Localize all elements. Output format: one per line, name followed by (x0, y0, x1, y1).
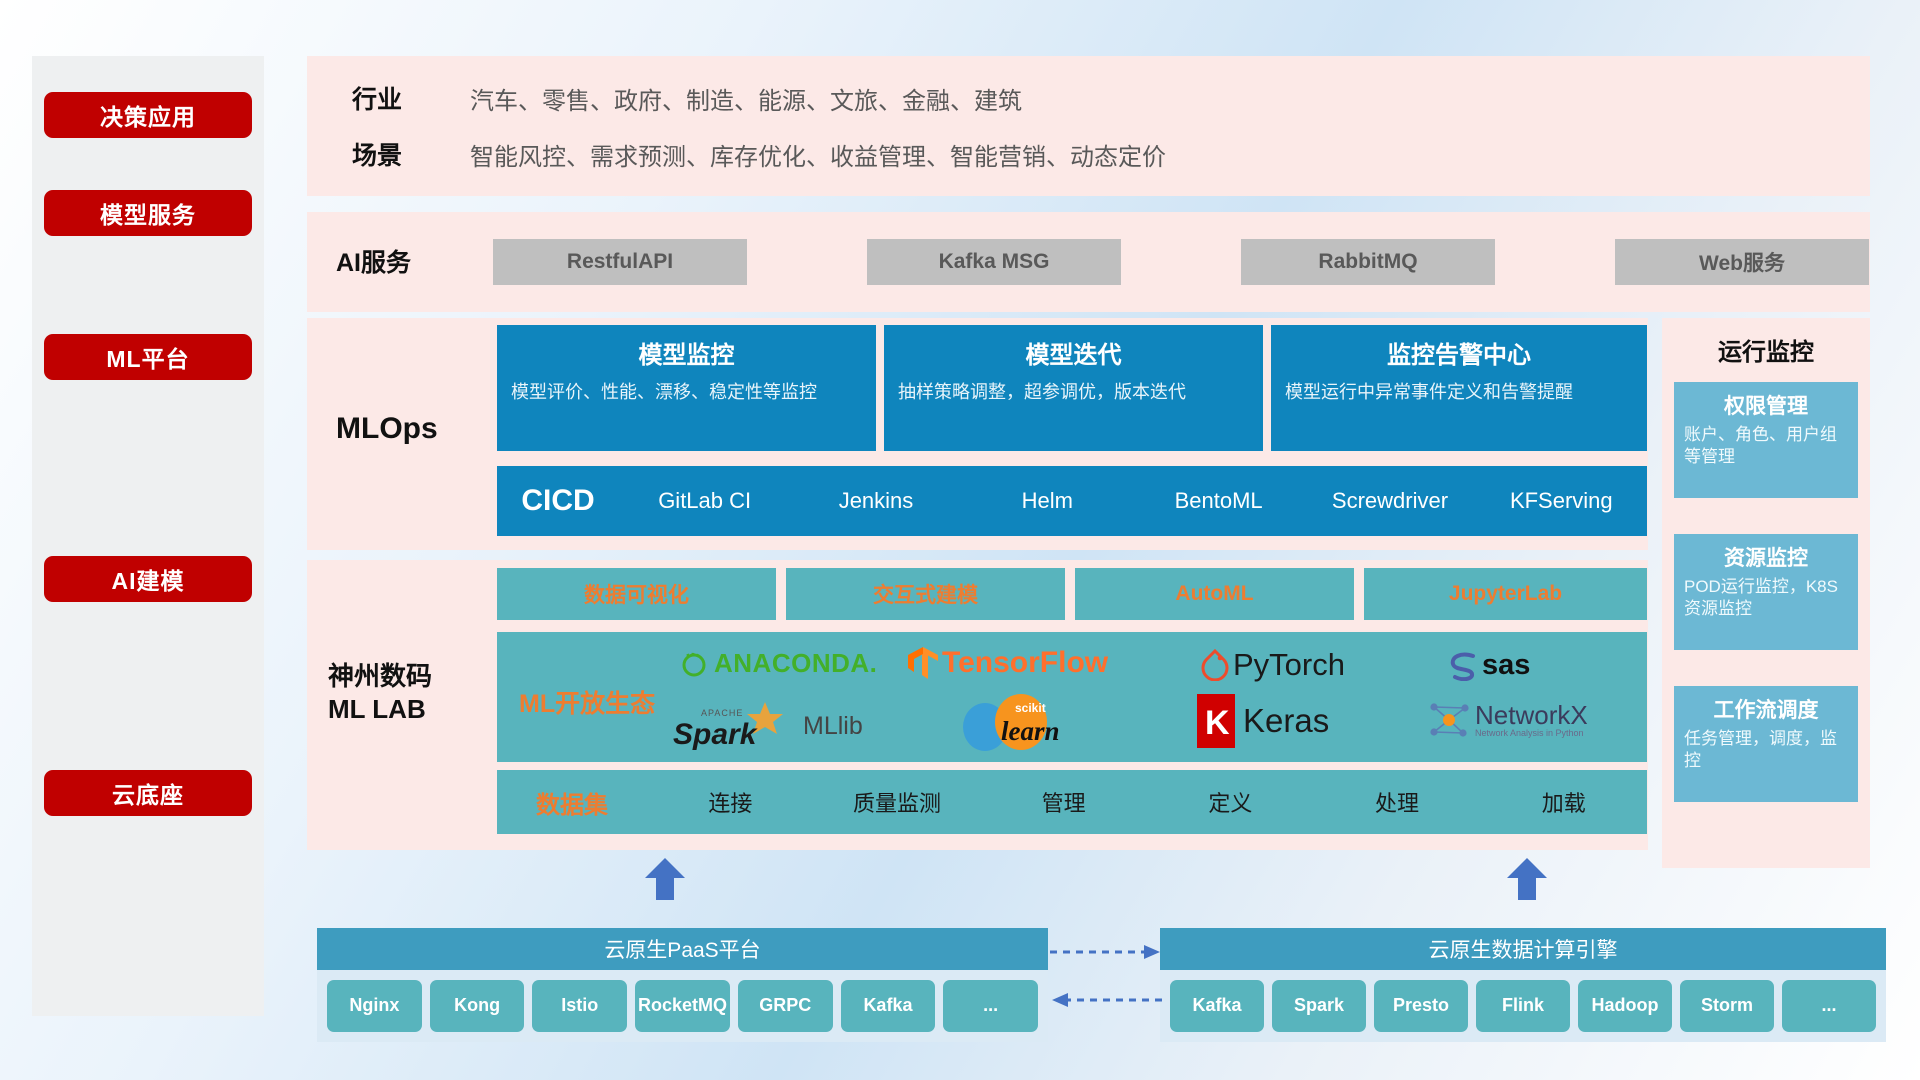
networkx-tagline: Network Analysis in Python (1475, 728, 1588, 738)
engine-chip-flink[interactable]: Flink (1476, 980, 1570, 1032)
ml-lab-label-line1: 神州数码 (328, 660, 432, 693)
pytorch-wordmark: PyTorch (1233, 647, 1345, 683)
ai-service-label: AI服务 (336, 248, 411, 279)
scenario-value: 智能风控、需求预测、库存优化、收益管理、智能营销、动态定价 (470, 137, 1166, 172)
stage-chip-decision-app[interactable]: 决策应用 (44, 92, 252, 138)
ml-ecosystem-label: ML开放生态 (519, 684, 655, 720)
tool-label: 数据可视化 (584, 579, 689, 609)
cicd-item-screwdriver[interactable]: Screwdriver (1304, 489, 1475, 512)
spark-icon: APACHE Spark (671, 700, 799, 752)
ml-lab-label: 神州数码 ML LAB (328, 660, 432, 725)
sas-icon (1447, 651, 1481, 681)
runtime-monitor-title: 运行监控 (1662, 318, 1870, 367)
networkx-icon (1427, 698, 1471, 742)
architecture-diagram: 决策应用 模型服务 ML平台 AI建模 云底座 行业 汽车、零售、政府、制造、能… (0, 0, 1920, 1080)
card-desc: 模型运行中异常事件定义和告警提醒 (1285, 380, 1633, 404)
ai-service-chip-rabbitmq[interactable]: RabbitMQ (1241, 239, 1495, 285)
stage-chip-ai-modeling[interactable]: AI建模 (44, 556, 252, 602)
networkx-wordmark: NetworkX (1475, 702, 1588, 728)
dataset-item-manage[interactable]: 管理 (980, 786, 1147, 818)
paas-chip-more[interactable]: ... (943, 980, 1038, 1032)
spark-mllib-logo: APACHE Spark MLlib (671, 700, 863, 752)
tool-label: 交互式建模 (873, 579, 978, 609)
chip-label: Web服务 (1699, 247, 1785, 277)
chip-label: RestfulAPI (567, 250, 673, 274)
cloud-data-engine-title: 云原生数据计算引擎 (1160, 928, 1886, 970)
dataset-item-load[interactable]: 加载 (1480, 786, 1647, 818)
chip-label: RabbitMQ (1318, 250, 1417, 274)
tensorflow-icon (907, 646, 939, 680)
card-title: 权限管理 (1684, 390, 1848, 420)
mlops-card-model-iteration[interactable]: 模型迭代 抽样策略调整，超参调优，版本迭代 (884, 325, 1263, 451)
lab-tool-automl[interactable]: AutoML (1075, 568, 1354, 620)
engine-chip-spark[interactable]: Spark (1272, 980, 1366, 1032)
ml-lab-label-line2: ML LAB (328, 693, 432, 726)
mllib-wordmark: MLlib (803, 712, 863, 741)
cicd-item-gitlab-ci[interactable]: GitLab CI (619, 489, 790, 512)
card-title: 工作流调度 (1684, 694, 1848, 724)
paas-chip-kafka[interactable]: Kafka (841, 980, 936, 1032)
stage-label: AI建模 (112, 562, 185, 596)
monitor-card-workflow[interactable]: 工作流调度 任务管理，调度，监控 (1674, 686, 1858, 802)
dataset-title: 数据集 (497, 785, 647, 820)
card-title: 监控告警中心 (1285, 335, 1633, 370)
up-arrow-paas (645, 858, 685, 900)
card-title: 模型迭代 (898, 335, 1249, 370)
dataset-bar: 数据集 连接 质量监测 管理 定义 处理 加载 (497, 770, 1647, 834)
cicd-item-bentoml[interactable]: BentoML (1133, 489, 1304, 512)
monitor-card-resource[interactable]: 资源监控 POD运行监控，K8S资源监控 (1674, 534, 1858, 650)
stage-label: 模型服务 (100, 196, 196, 230)
engine-chip-kafka[interactable]: Kafka (1170, 980, 1264, 1032)
engine-chip-hadoop[interactable]: Hadoop (1578, 980, 1672, 1032)
svg-text:Spark: Spark (673, 718, 758, 751)
lab-tool-jupyterlab[interactable]: JupyterLab (1364, 568, 1647, 620)
cicd-item-helm[interactable]: Helm (962, 489, 1133, 512)
cicd-item-jenkins[interactable]: Jenkins (790, 489, 961, 512)
cloud-data-engine-block: 云原生数据计算引擎 Kafka Spark Presto Flink Hadoo… (1160, 928, 1886, 1042)
dataset-item-process[interactable]: 处理 (1314, 786, 1481, 818)
card-desc: 模型评价、性能、漂移、稳定性等监控 (511, 380, 862, 404)
ai-service-chip-kafka-msg[interactable]: Kafka MSG (867, 239, 1121, 285)
paas-chip-kong[interactable]: Kong (430, 980, 525, 1032)
anaconda-logo: ANACONDA. (679, 648, 877, 679)
mlops-label: MLOps (336, 410, 438, 448)
industry-key: 行业 (352, 80, 470, 116)
ai-service-chip-restfulapi[interactable]: RestfulAPI (493, 239, 747, 285)
cloud-paas-title: 云原生PaaS平台 (317, 928, 1048, 970)
networkx-logo: NetworkX Network Analysis in Python (1427, 698, 1588, 742)
paas-chip-istio[interactable]: Istio (532, 980, 627, 1032)
anaconda-wordmark: ANACONDA. (714, 648, 877, 679)
card-desc: POD运行监控，K8S资源监控 (1684, 576, 1848, 621)
tensorflow-wordmark: TensorFlow (942, 646, 1108, 680)
card-desc: 任务管理，调度，监控 (1684, 728, 1848, 773)
card-desc: 抽样策略调整，超参调优，版本迭代 (898, 380, 1249, 404)
scenario-key: 场景 (352, 136, 470, 172)
lab-tool-interactive-modeling[interactable]: 交互式建模 (786, 568, 1065, 620)
stage-label: 决策应用 (100, 98, 196, 132)
anaconda-icon (679, 649, 709, 679)
cloud-data-engine-chips: Kafka Spark Presto Flink Hadoop Storm ..… (1160, 970, 1886, 1042)
engine-chip-presto[interactable]: Presto (1374, 980, 1468, 1032)
cicd-bar: CICD GitLab CI Jenkins Helm BentoML Scre… (497, 466, 1647, 536)
keras-logo: K Keras (1197, 694, 1329, 748)
industry-row: 行业 汽车、零售、政府、制造、能源、文旅、金融、建筑 (352, 76, 1752, 120)
card-title: 模型监控 (511, 335, 862, 370)
runtime-monitor-panel: 运行监控 权限管理 账户、角色、用户组等管理 资源监控 POD运行监控，K8S资… (1662, 318, 1870, 868)
paas-chip-rocketmq[interactable]: RocketMQ (635, 980, 730, 1032)
sas-wordmark: sas (1482, 649, 1530, 682)
dataset-item-define[interactable]: 定义 (1147, 786, 1314, 818)
tool-label: AutoML (1175, 582, 1253, 606)
chip-label: Kafka MSG (939, 250, 1050, 274)
stage-chip-model-service[interactable]: 模型服务 (44, 190, 252, 236)
scikit-learn-icon: scikit learn (957, 694, 1107, 752)
card-desc: 账户、角色、用户组等管理 (1684, 424, 1848, 469)
keras-wordmark: Keras (1243, 702, 1329, 740)
stage-label: 云底座 (112, 776, 184, 810)
stage-chip-ml-platform[interactable]: ML平台 (44, 334, 252, 380)
mlops-card-alert-center[interactable]: 监控告警中心 模型运行中异常事件定义和告警提醒 (1271, 325, 1647, 451)
pytorch-icon (1201, 649, 1229, 681)
cloud-paas-block: 云原生PaaS平台 Nginx Kong Istio RocketMQ GRPC… (317, 928, 1048, 1042)
dataset-item-quality[interactable]: 质量监测 (814, 786, 981, 818)
scikit-learn-logo: scikit learn (957, 694, 1107, 752)
ml-ecosystem-box: ML开放生态 ANACONDA. TensorFlow (497, 632, 1647, 762)
industry-value: 汽车、零售、政府、制造、能源、文旅、金融、建筑 (470, 81, 1022, 116)
stage-label: ML平台 (106, 340, 189, 374)
paas-chip-grpc[interactable]: GRPC (738, 980, 833, 1032)
pytorch-logo: PyTorch (1201, 647, 1345, 683)
scenario-row: 场景 智能风控、需求预测、库存优化、收益管理、智能营销、动态定价 (352, 132, 1752, 176)
tool-label: JupyterLab (1449, 582, 1562, 606)
engine-chip-storm[interactable]: Storm (1680, 980, 1774, 1032)
lab-tool-data-visualization[interactable]: 数据可视化 (497, 568, 776, 620)
cicd-item-kfserving[interactable]: KFServing (1476, 489, 1647, 512)
cloud-exchange-arrows (1048, 938, 1164, 1018)
stage-chip-cloud-base[interactable]: 云底座 (44, 770, 252, 816)
svg-text:APACHE: APACHE (701, 708, 743, 718)
cloud-paas-chips: Nginx Kong Istio RocketMQ GRPC Kafka ... (317, 970, 1048, 1042)
svg-text:learn: learn (1001, 716, 1060, 746)
up-arrow-data-engine (1507, 858, 1547, 900)
card-title: 资源监控 (1684, 542, 1848, 572)
ecosystem-logo-grid: ANACONDA. TensorFlow PyTorch (657, 636, 1643, 758)
monitor-card-permission[interactable]: 权限管理 账户、角色、用户组等管理 (1674, 382, 1858, 498)
dataset-item-connect[interactable]: 连接 (647, 786, 814, 818)
mlops-card-model-monitoring[interactable]: 模型监控 模型评价、性能、漂移、稳定性等监控 (497, 325, 876, 451)
tensorflow-logo: TensorFlow (907, 646, 1108, 680)
sas-logo: sas (1447, 649, 1530, 682)
ai-service-chip-web-service[interactable]: Web服务 (1615, 239, 1869, 285)
paas-chip-nginx[interactable]: Nginx (327, 980, 422, 1032)
engine-chip-more[interactable]: ... (1782, 980, 1876, 1032)
keras-icon: K (1197, 694, 1235, 748)
cicd-title: CICD (497, 484, 619, 518)
svg-text:K: K (1205, 704, 1230, 742)
svg-text:scikit: scikit (1015, 701, 1046, 715)
